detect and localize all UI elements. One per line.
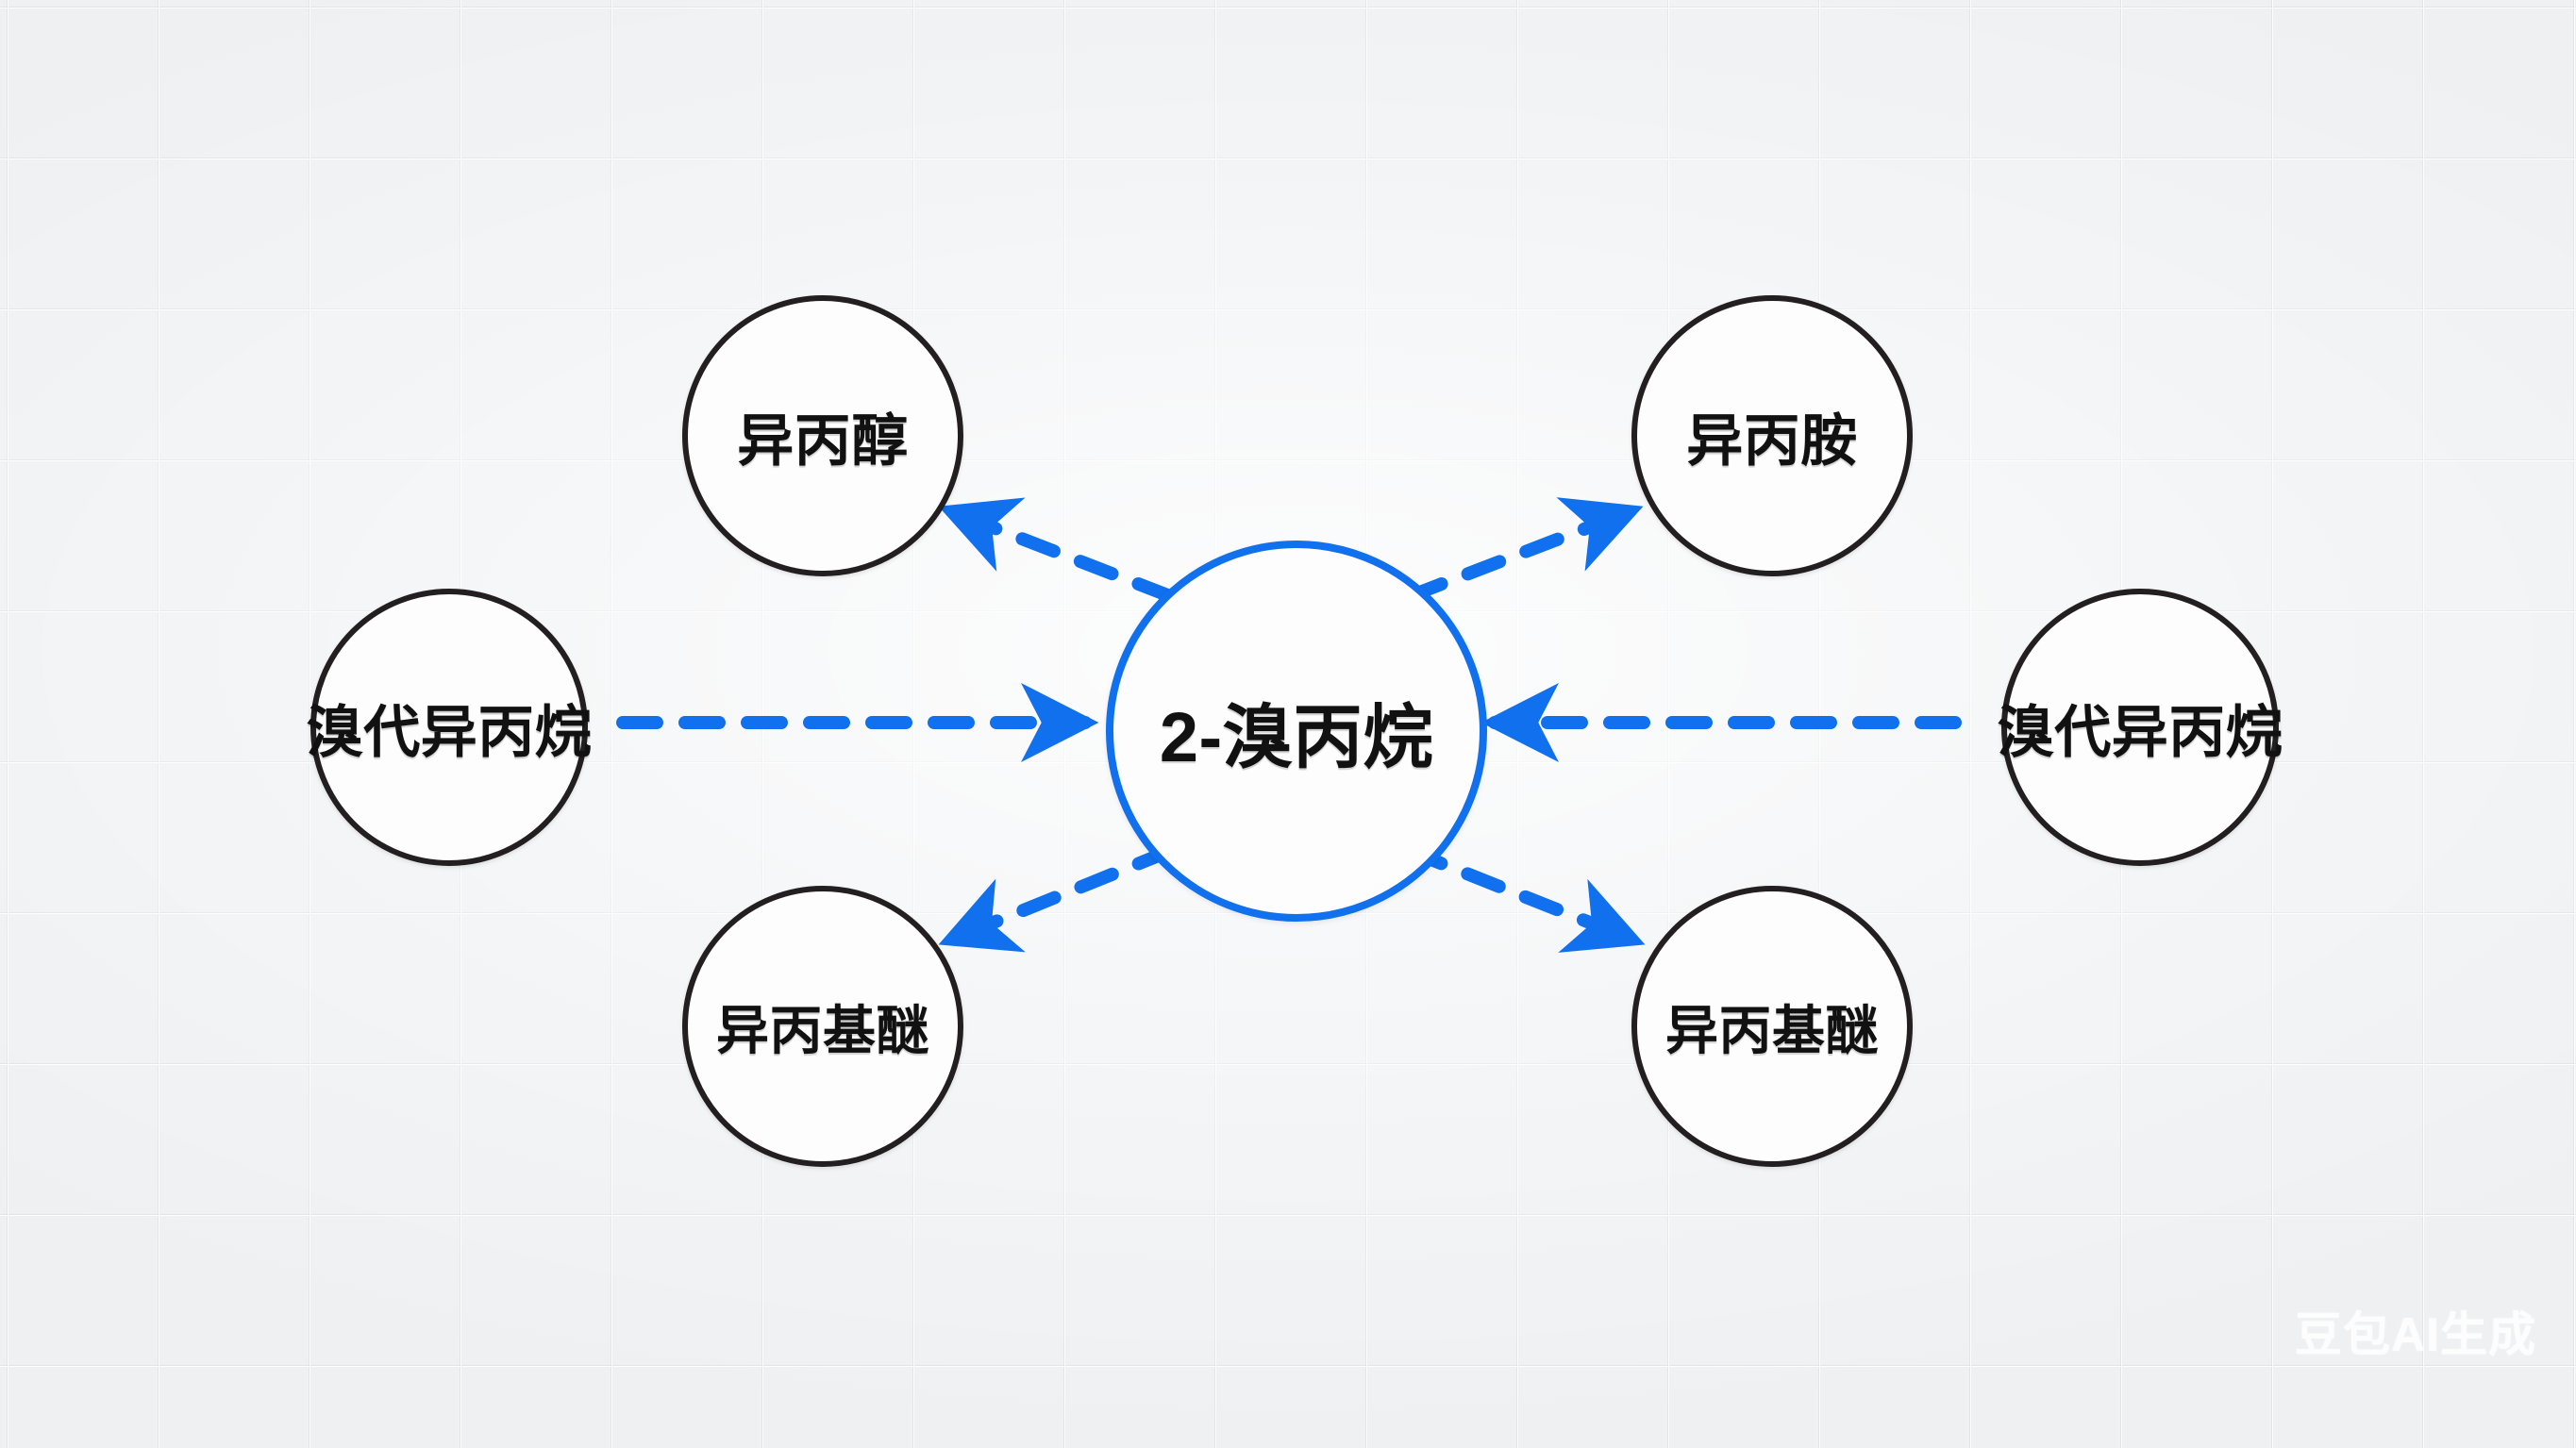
edge-center-to-bottom-left [951,851,1170,940]
node-bottom-left[interactable]: 异丙基醚 [682,886,963,1167]
node-top-right[interactable]: 异丙胺 [1631,295,1913,576]
edge-center-to-top-right [1410,511,1631,596]
watermark: 豆包AI生成 [2295,1297,2536,1365]
node-bottom-right-label: 异丙基醚 [1665,989,1879,1065]
node-top-right-label: 异丙胺 [1686,395,1858,477]
node-bottom-right[interactable]: 异丙基醚 [1631,886,1913,1167]
node-left-reactant[interactable]: 溴代异丙烷 [310,589,588,866]
diagram-canvas: 溴代异丙烷 溴代异丙烷 异丙醇 异丙胺 异丙基醚 异丙基醚 2-溴丙烷 豆包AI… [0,0,2576,1448]
node-center-label: 2-溴丙烷 [1160,681,1433,782]
node-center[interactable]: 2-溴丙烷 [1106,541,1487,922]
node-left-reactant-label: 溴代异丙烷 [307,687,593,769]
edge-center-to-top-left [951,511,1170,596]
node-top-left-label: 异丙醇 [737,395,909,477]
node-right-reactant-label: 溴代异丙烷 [1998,687,2283,769]
node-right-reactant[interactable]: 溴代异丙烷 [2001,589,2279,866]
edge-center-to-bottom-right [1410,851,1632,940]
node-bottom-left-label: 异丙基醚 [716,989,929,1065]
node-top-left[interactable]: 异丙醇 [682,295,963,576]
